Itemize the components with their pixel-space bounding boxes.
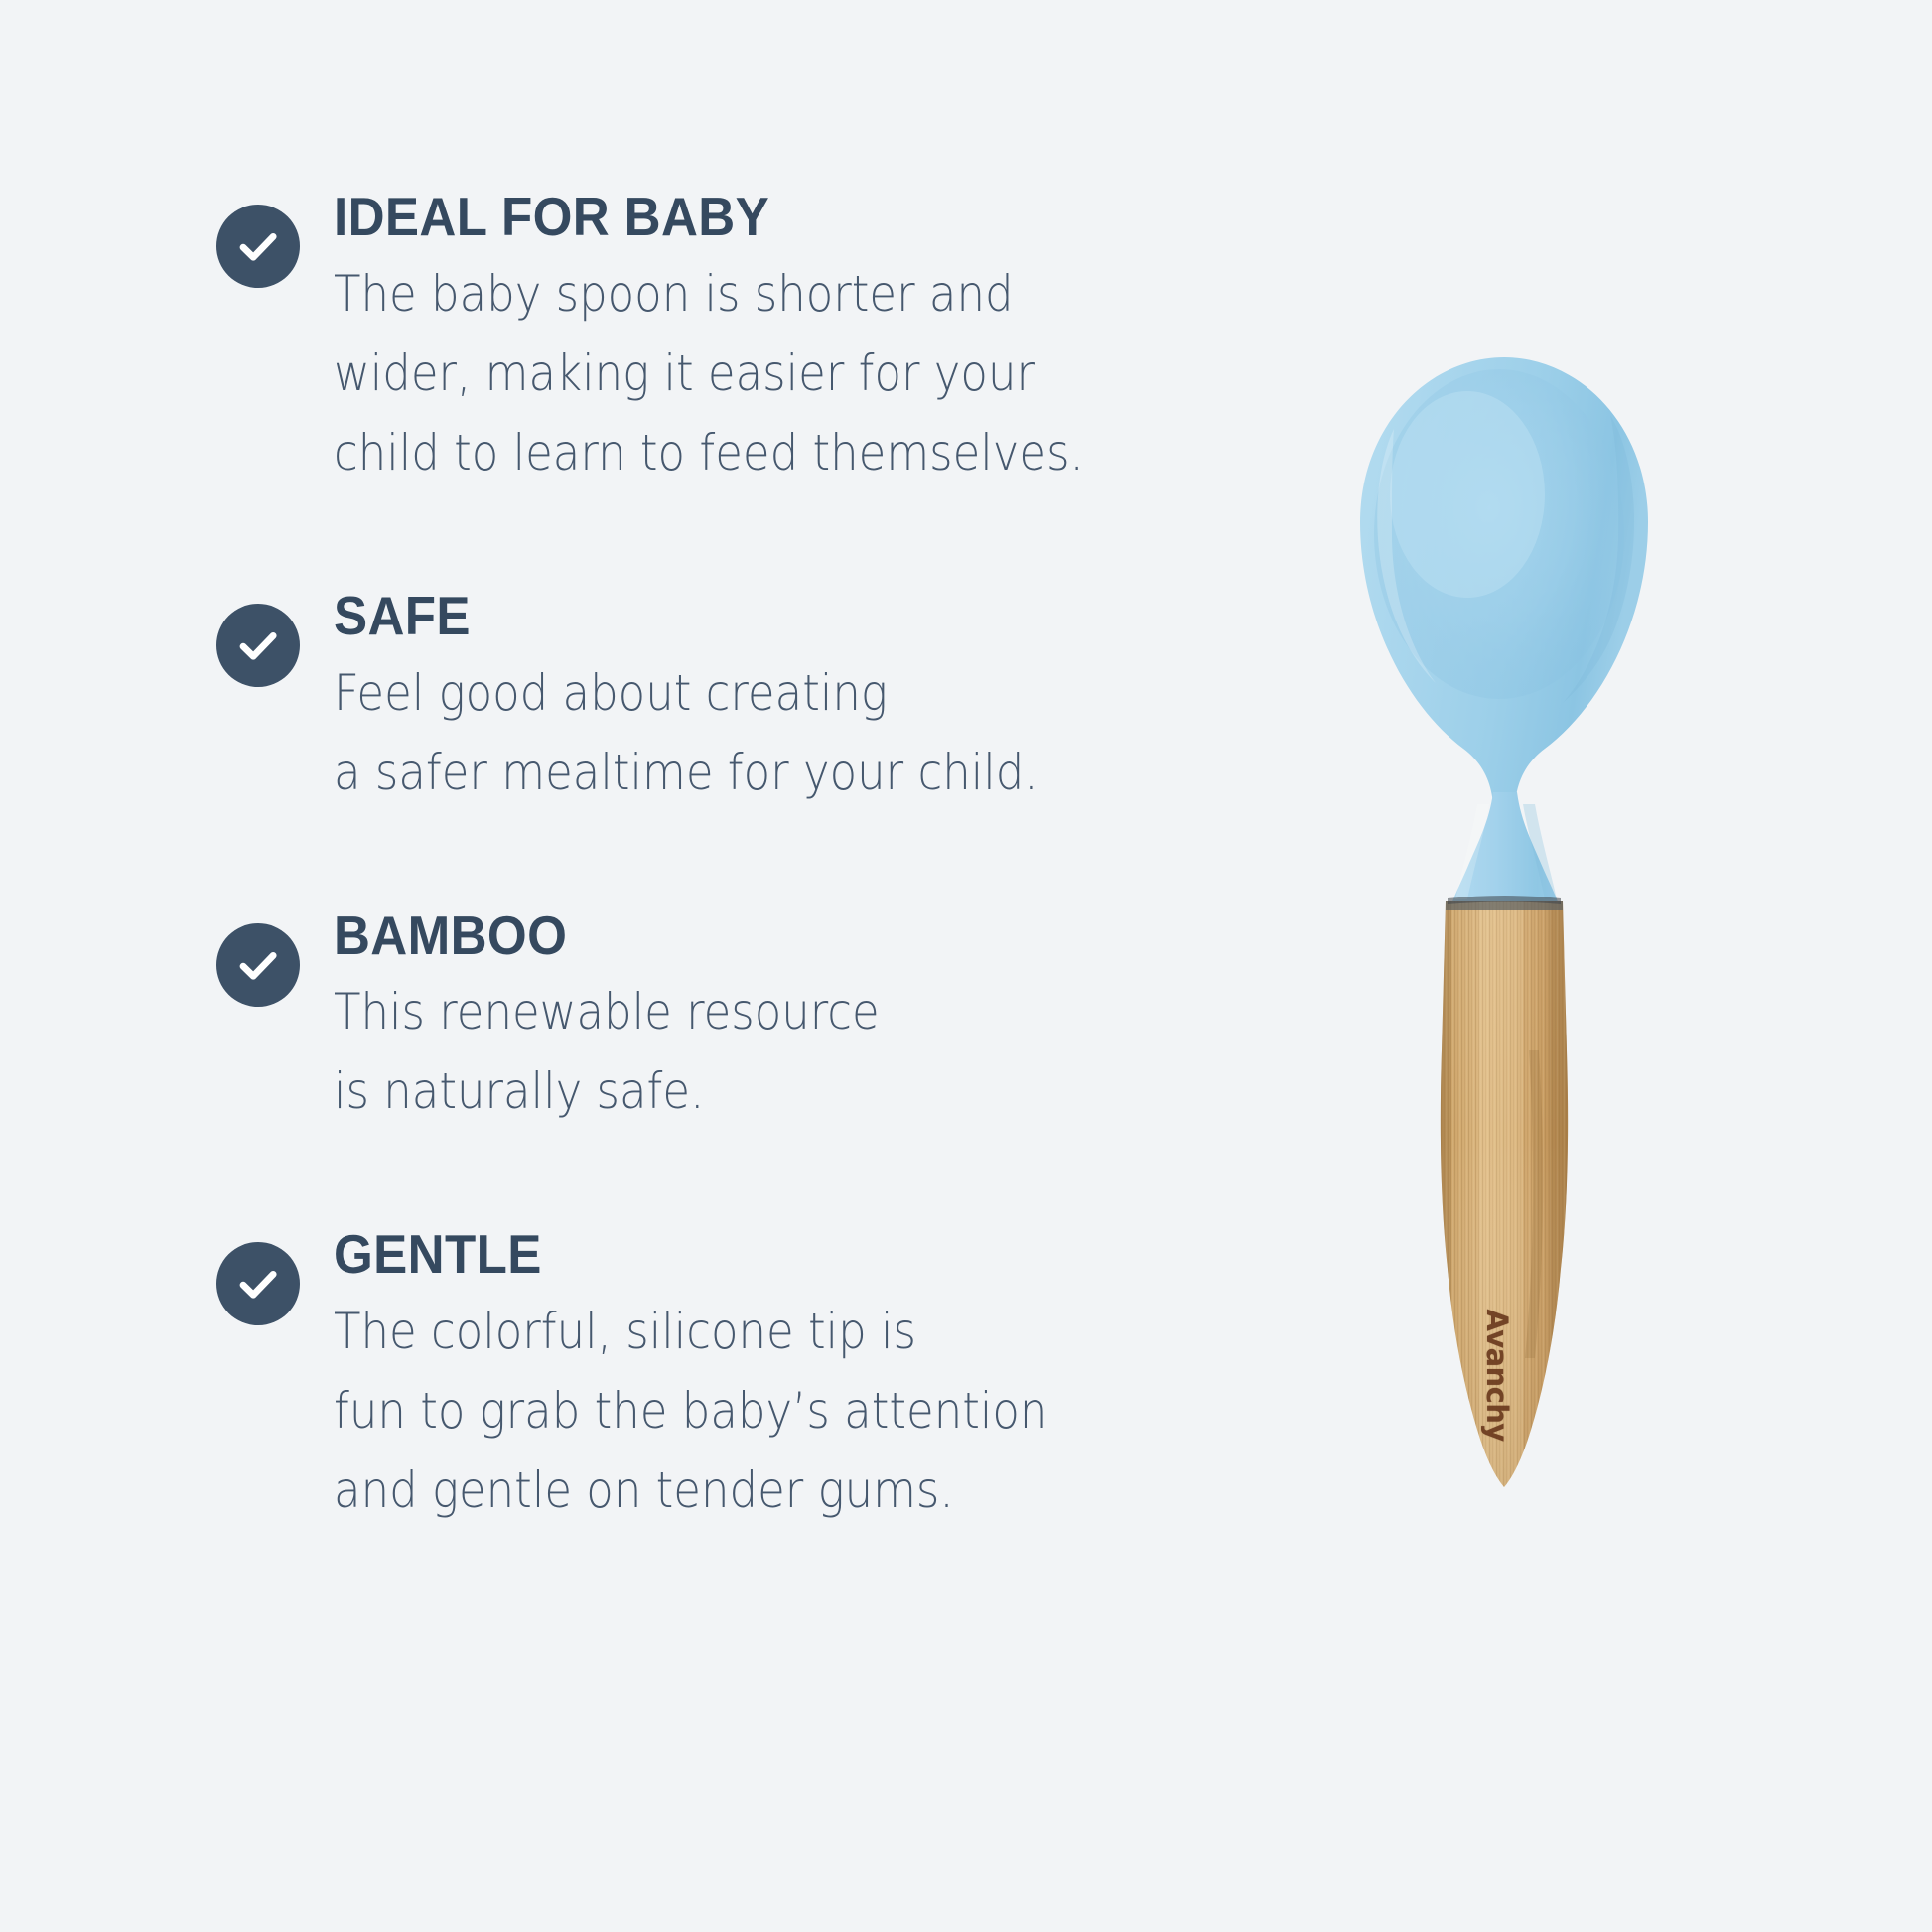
spoon-bamboo-handle [1430, 892, 1588, 1507]
product-image-bamboo-baby-spoon [1350, 355, 1668, 1507]
feature-list: IDEAL FOR BABY The baby spoon is shorter… [216, 189, 1209, 1530]
infographic-page: IDEAL FOR BABY The baby spoon is shorter… [0, 0, 1932, 1932]
feature-text-block: BAMBOO This renewable resource is natura… [300, 907, 940, 1132]
feature-item-ideal-for-baby: IDEAL FOR BABY The baby spoon is shorter… [216, 189, 1209, 492]
feature-title: SAFE [334, 588, 1061, 645]
feature-body: This renewable resource is naturally saf… [334, 972, 880, 1131]
feature-body: The colorful, silicone tip is fun to gra… [334, 1292, 1047, 1530]
feature-body: Feel good about creating a safer mealtim… [334, 653, 1038, 812]
feature-title: IDEAL FOR BABY [334, 189, 1109, 246]
feature-text-block: IDEAL FOR BABY The baby spoon is shorter… [300, 189, 1168, 492]
feature-title: GENTLE [334, 1226, 1071, 1284]
check-circle-icon [216, 205, 300, 288]
spoon-silicone-neck [1451, 792, 1559, 905]
feature-title: BAMBOO [334, 907, 897, 965]
feature-text-block: SAFE Feel good about creating a safer me… [300, 588, 1116, 812]
spoon-silicone-bowl [1360, 357, 1648, 804]
feature-item-bamboo: BAMBOO This renewable resource is natura… [216, 907, 1209, 1132]
feature-body: The baby spoon is shorter and wider, mak… [334, 254, 1084, 492]
feature-item-gentle: GENTLE The colorful, silicone tip is fun… [216, 1226, 1209, 1530]
check-circle-icon [216, 604, 300, 687]
check-circle-icon [216, 1242, 300, 1325]
check-circle-icon [216, 923, 300, 1007]
feature-text-block: GENTLE The colorful, silicone tip is fun… [300, 1226, 1127, 1530]
feature-item-safe: SAFE Feel good about creating a safer me… [216, 588, 1209, 812]
